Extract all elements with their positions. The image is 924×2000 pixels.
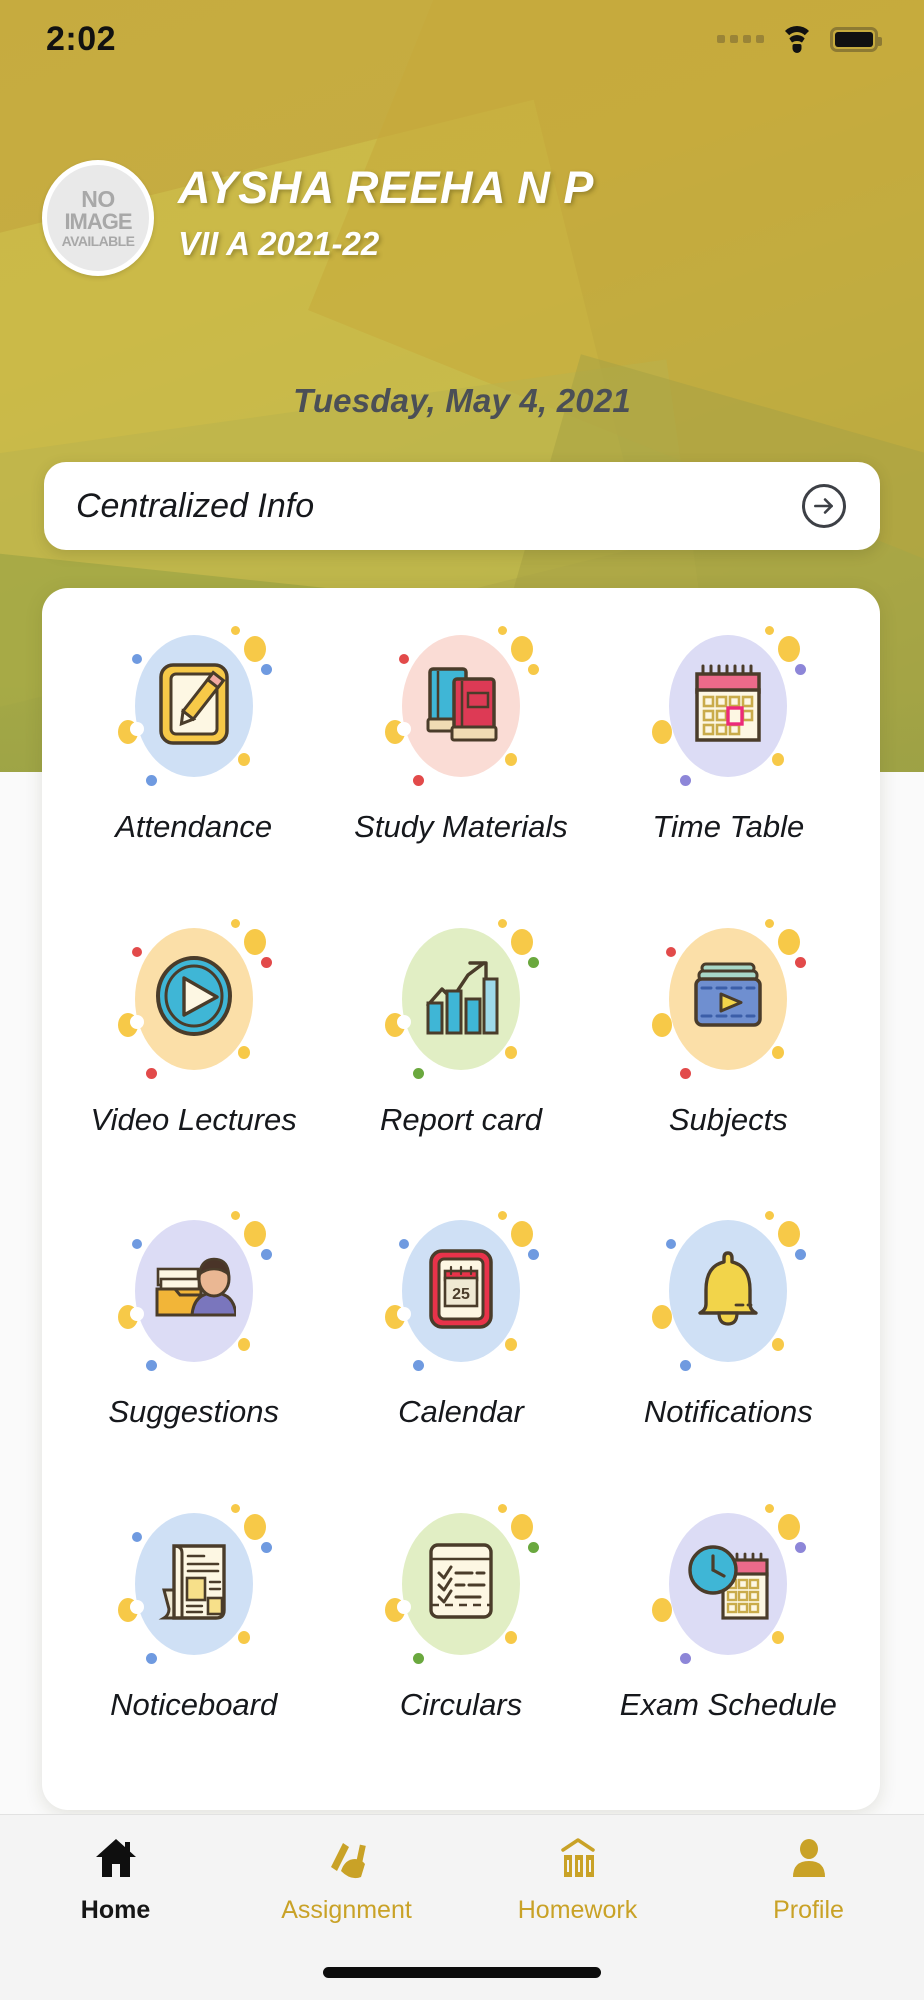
menu-item-label: Noticeboard	[110, 1688, 277, 1722]
icon-wrapper	[114, 1498, 274, 1670]
menu-item-circulars[interactable]: Circulars	[327, 1488, 594, 1781]
student-info: AYSHA REEHA N P VII A 2021-22	[178, 160, 594, 263]
menu-item-label: Calendar	[398, 1395, 524, 1429]
video-folder-icon	[688, 956, 768, 1041]
school-books-icon	[556, 1837, 600, 1884]
icon-wrapper	[381, 620, 541, 792]
menu-item-study-materials[interactable]: Study Materials	[327, 610, 594, 903]
notepad-pencil-icon	[157, 661, 231, 752]
icon-wrapper	[381, 1498, 541, 1670]
person-icon	[787, 1837, 831, 1884]
menu-item-video-lectures[interactable]: Video Lectures	[60, 903, 327, 1196]
student-class: VII A 2021-22	[178, 225, 594, 263]
hand-writing-icon	[325, 1837, 369, 1884]
bell-icon	[689, 1247, 767, 1336]
icon-wrapper	[648, 1498, 808, 1670]
status-time: 2:02	[46, 20, 116, 59]
menu-item-subjects[interactable]: Subjects	[595, 903, 862, 1196]
menu-item-label: Exam Schedule	[620, 1688, 837, 1722]
menu-grid: Attendance	[42, 588, 880, 1810]
home-icon	[94, 1837, 138, 1884]
avatar-line-2: IMAGE	[64, 211, 131, 233]
nav-item-homework[interactable]: Homework	[462, 1837, 693, 1925]
icon-wrapper	[648, 620, 808, 792]
calendar-phone-icon: 25	[426, 1247, 496, 1336]
home-indicator[interactable]	[323, 1967, 601, 1978]
menu-item-label: Subjects	[669, 1103, 788, 1137]
menu-item-report-card[interactable]: Report card	[327, 903, 594, 1196]
centralized-info-label: Centralized Info	[76, 487, 314, 526]
icon-wrapper	[648, 913, 808, 1085]
nav-item-label: Homework	[518, 1896, 637, 1925]
nav-item-label: Assignment	[281, 1896, 412, 1925]
bar-chart-growth-icon	[420, 953, 502, 1044]
icon-wrapper	[114, 913, 274, 1085]
menu-item-time-table[interactable]: Time Table	[595, 610, 862, 903]
menu-item-label: Video Lectures	[91, 1103, 297, 1137]
menu-item-attendance[interactable]: Attendance	[60, 610, 327, 903]
centralized-info-bar[interactable]: Centralized Info	[44, 462, 880, 550]
books-icon	[420, 661, 502, 752]
menu-item-label: Notifications	[644, 1395, 813, 1429]
current-date: Tuesday, May 4, 2021	[0, 382, 924, 420]
menu-item-noticeboard[interactable]: Noticeboard	[60, 1488, 327, 1781]
clock-calendar-icon	[685, 1538, 771, 1629]
menu-item-notifications[interactable]: Notifications	[595, 1195, 862, 1488]
icon-wrapper	[648, 1205, 808, 1377]
menu-item-suggestions[interactable]: Suggestions	[60, 1195, 327, 1488]
menu-item-label: Time Table	[652, 810, 804, 844]
wifi-icon	[780, 26, 814, 52]
icon-wrapper	[114, 1205, 274, 1377]
play-circle-icon	[151, 953, 237, 1044]
person-files-icon	[152, 1249, 236, 1334]
menu-item-exam-schedule[interactable]: Exam Schedule	[595, 1488, 862, 1781]
student-name: AYSHA REEHA N P	[178, 164, 594, 211]
menu-item-label: Study Materials	[354, 810, 568, 844]
nav-item-label: Profile	[773, 1896, 844, 1925]
menu-card: Attendance	[42, 588, 880, 1810]
nav-item-label: Home	[81, 1896, 150, 1925]
calendar-grid-icon	[689, 662, 767, 751]
nav-item-profile[interactable]: Profile	[693, 1837, 924, 1925]
student-profile: NO IMAGE AVAILABLE AYSHA REEHA N P VII A…	[42, 160, 594, 276]
menu-item-label: Circulars	[400, 1688, 522, 1722]
status-indicators	[717, 26, 878, 52]
app-screen: 2:02 NO IMAGE AVAILABLE AYSHA REEHA N P …	[0, 0, 924, 2000]
battery-full-icon	[830, 27, 878, 52]
avatar-line-3: AVAILABLE	[62, 234, 135, 248]
menu-item-calendar[interactable]: 25 Calendar	[327, 1195, 594, 1488]
signal-dots-icon	[717, 35, 764, 43]
icon-wrapper: 25	[381, 1205, 541, 1377]
nav-item-assignment[interactable]: Assignment	[231, 1837, 462, 1925]
nav-item-home[interactable]: Home	[0, 1837, 231, 1925]
avatar[interactable]: NO IMAGE AVAILABLE	[42, 160, 154, 276]
news-document-icon	[154, 1538, 234, 1629]
icon-wrapper	[114, 620, 274, 792]
menu-item-label: Suggestions	[108, 1395, 279, 1429]
menu-item-label: Report card	[380, 1103, 542, 1137]
svg-text:25: 25	[452, 1286, 470, 1303]
icon-wrapper	[381, 913, 541, 1085]
menu-item-label: Attendance	[115, 810, 272, 844]
checklist-icon	[424, 1539, 498, 1628]
avatar-line-1: NO	[81, 188, 115, 211]
status-bar: 2:02	[0, 0, 924, 78]
arrow-right-circle-icon[interactable]	[802, 484, 846, 528]
